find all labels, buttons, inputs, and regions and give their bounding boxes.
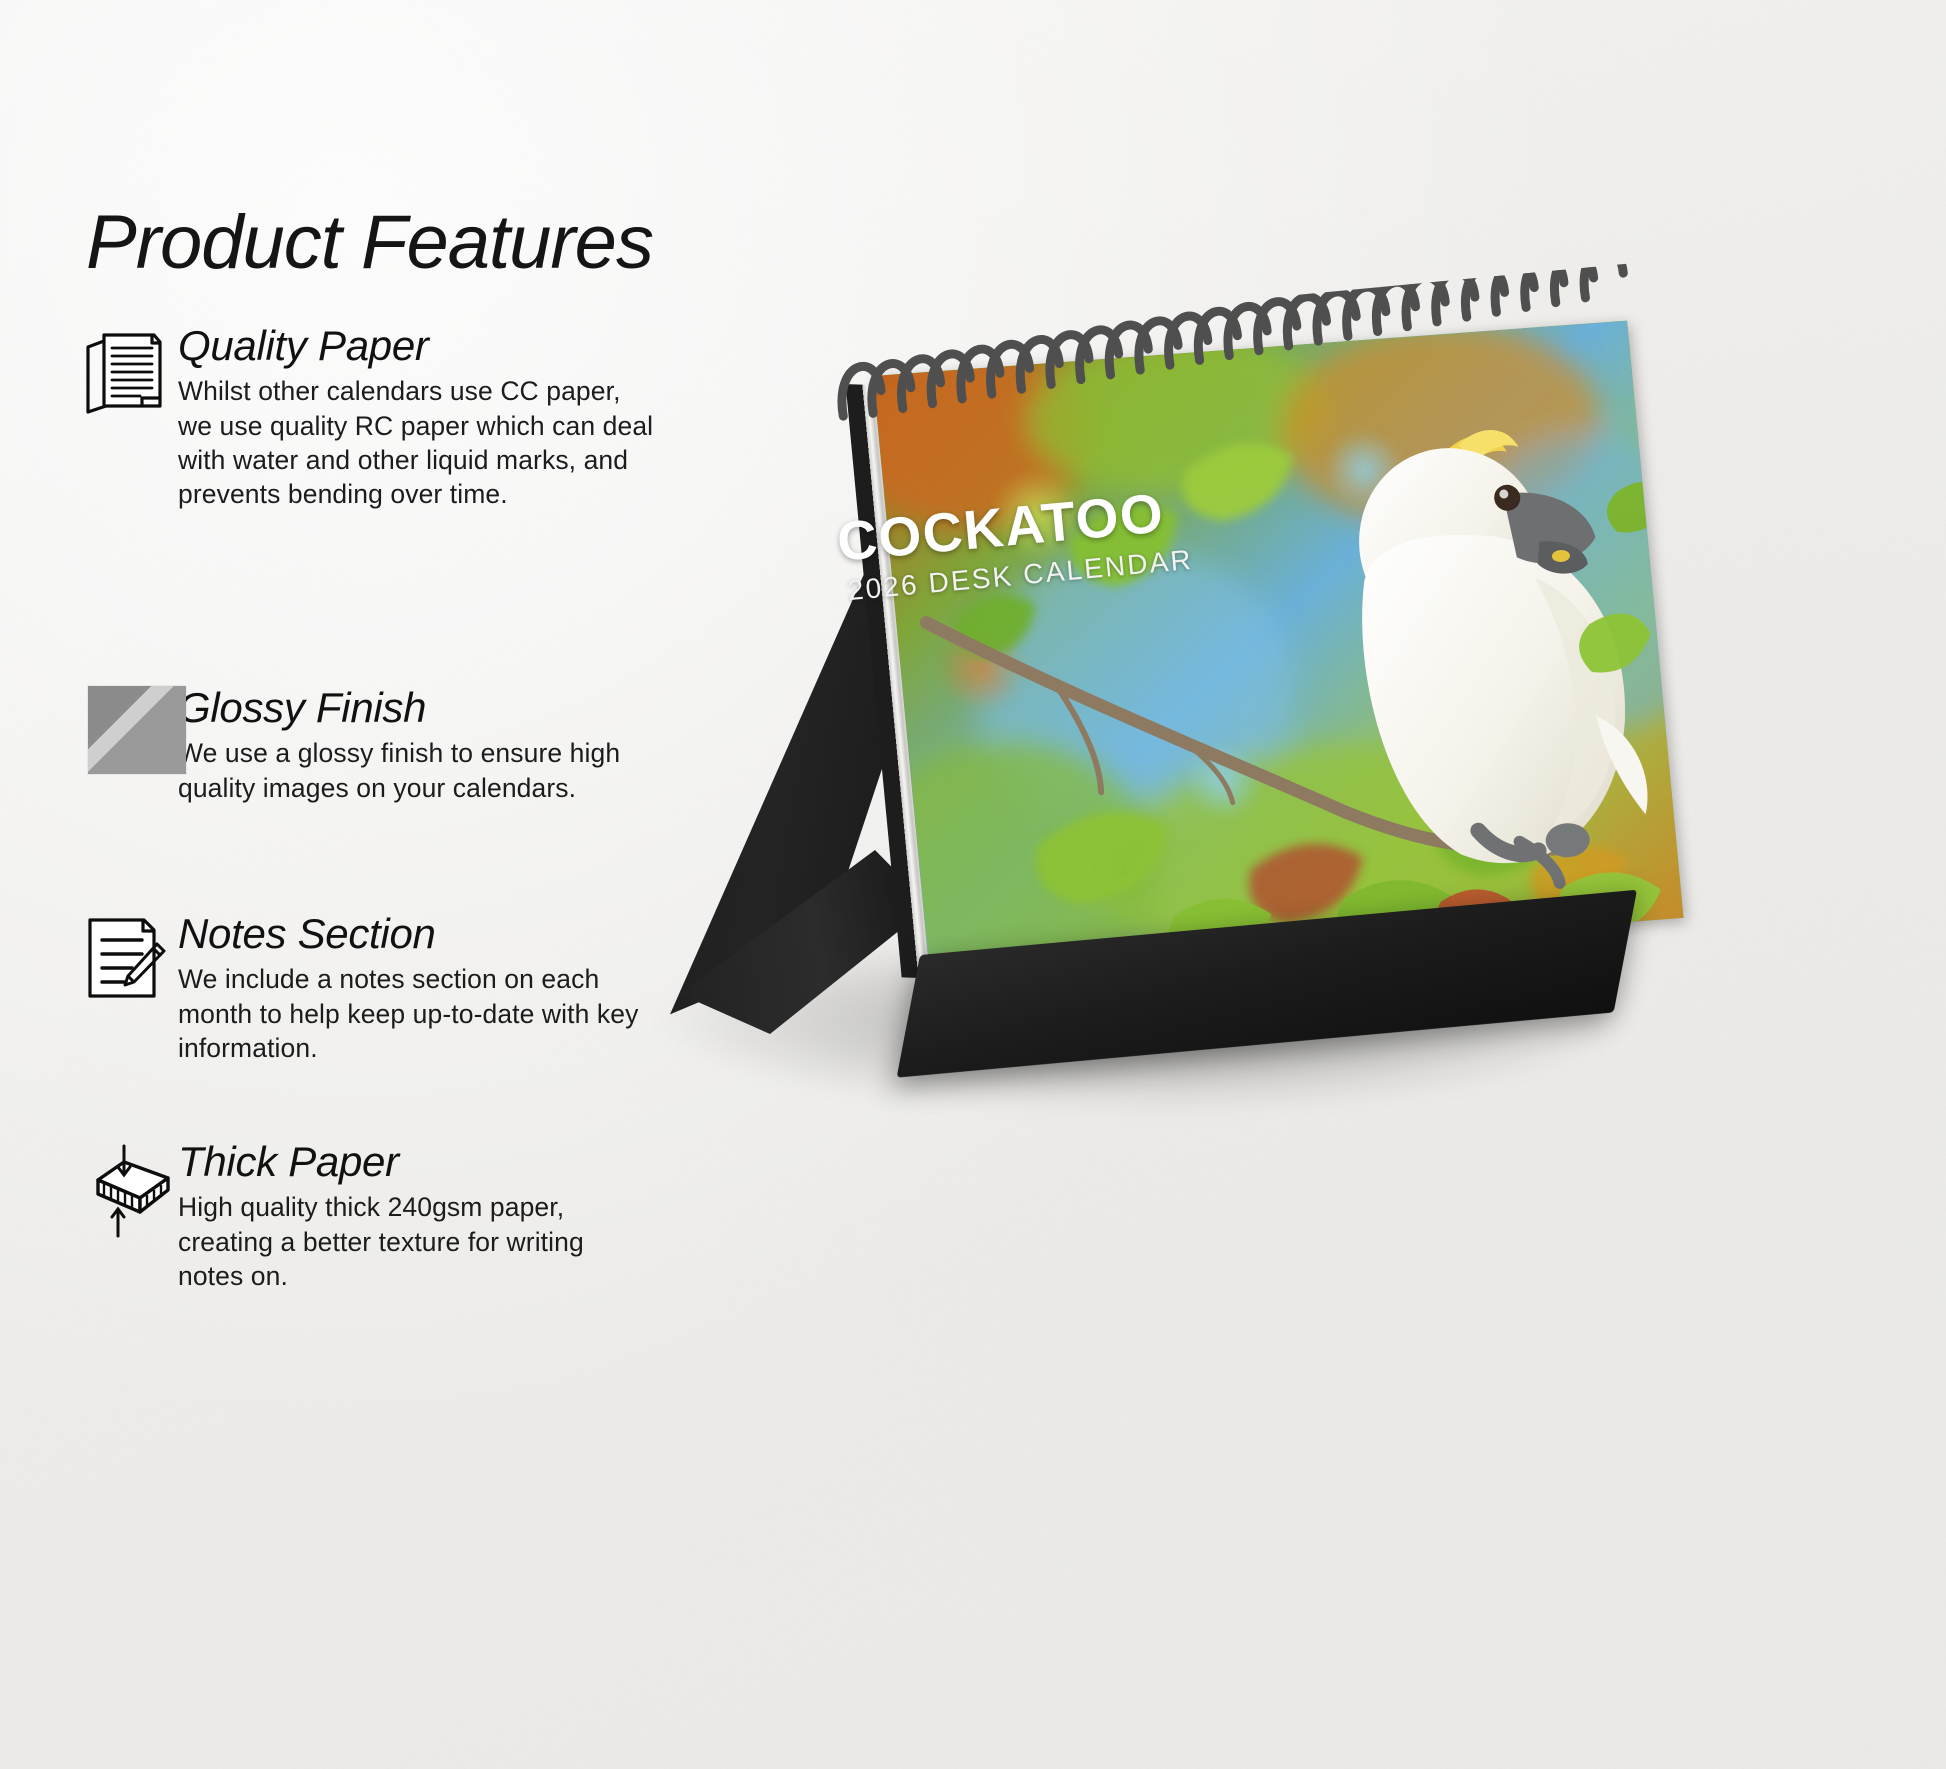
feature-body: Glossy Finish We use a glossy finish to … <box>178 686 688 805</box>
desk-calendar-mockup: COCKATOO 2026 DESK CALENDAR <box>620 330 1640 1150</box>
feature-item-notes-section: Notes Section We include a notes section… <box>78 912 688 1065</box>
page-title: Product Features <box>86 199 653 286</box>
glossy-swatch-icon <box>78 686 170 778</box>
feature-title: Notes Section <box>178 912 688 956</box>
feature-title: Thick Paper <box>178 1140 688 1184</box>
feature-item-thick-paper: Thick Paper High quality thick 240gsm pa… <box>78 1140 688 1293</box>
feature-body: Notes Section We include a notes section… <box>178 912 688 1065</box>
feature-description: Whilst other calendars use CC paper, we … <box>178 374 688 512</box>
feature-body: Thick Paper High quality thick 240gsm pa… <box>178 1140 688 1293</box>
feature-title: Quality Paper <box>178 324 688 368</box>
feature-item-glossy-finish: Glossy Finish We use a glossy finish to … <box>78 686 688 805</box>
stacked-documents-icon <box>78 324 170 416</box>
paper-thickness-icon <box>78 1140 170 1232</box>
cover-photo <box>873 321 1684 974</box>
feature-title: Glossy Finish <box>178 686 688 730</box>
feature-description: We use a glossy finish to ensure high qu… <box>178 736 688 805</box>
feature-body: Quality Paper Whilst other calendars use… <box>178 324 688 512</box>
feature-item-quality-paper: Quality Paper Whilst other calendars use… <box>78 324 688 512</box>
notepad-pencil-icon <box>78 912 170 1004</box>
feature-description: High quality thick 240gsm paper, creatin… <box>178 1190 688 1293</box>
feature-description: We include a notes section on each month… <box>178 962 688 1065</box>
